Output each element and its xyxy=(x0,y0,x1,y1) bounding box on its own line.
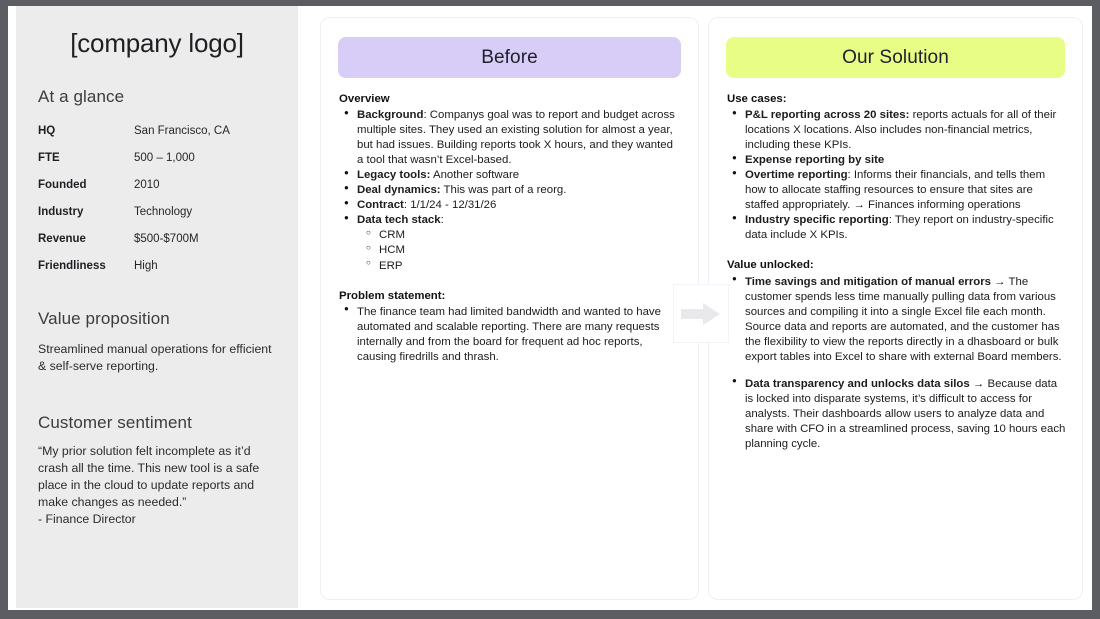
item-label: Data transparency and unlocks data silos xyxy=(745,378,970,390)
before-badge: Before xyxy=(338,37,681,78)
solution-badge: Our Solution xyxy=(726,37,1065,78)
glance-key: Revenue xyxy=(38,225,134,252)
use-cases-list: P&L reporting across 20 sites: reports a… xyxy=(727,108,1066,243)
glance-key: Founded xyxy=(38,171,134,198)
table-row: HQ San Francisco, CA xyxy=(38,117,276,144)
item-label: Overtime reporting xyxy=(745,169,848,181)
glance-key: Industry xyxy=(38,198,134,225)
table-row: Industry Technology xyxy=(38,198,276,225)
sidebar: [company logo] At a glance HQ San Franci… xyxy=(16,6,298,608)
table-row: Friendliness High xyxy=(38,252,276,279)
list-item: Contract: 1/1/24 - 12/31/26 xyxy=(357,198,682,213)
overview-title: Overview xyxy=(339,92,682,107)
table-row: Revenue $500-$700M xyxy=(38,225,276,252)
item-sep: → xyxy=(970,378,988,390)
value-proposition-heading: Value proposition xyxy=(38,309,276,329)
list-item: HCM xyxy=(379,243,682,258)
item-text: This was part of a reorg. xyxy=(444,184,567,196)
connector-box xyxy=(673,284,729,343)
list-item: Legacy tools: Another software xyxy=(357,168,682,183)
use-cases-title: Use cases: xyxy=(727,92,1066,107)
problem-statement-title: Problem statement: xyxy=(339,289,682,304)
right-arrow-icon xyxy=(681,302,721,326)
before-body: Overview Background: Companys goal was t… xyxy=(321,78,698,365)
list-item: Background: Companys goal was to report … xyxy=(357,108,682,168)
list-item: Industry specific reporting: They report… xyxy=(745,213,1066,243)
solution-card: Our Solution Use cases: P&L reporting ac… xyxy=(708,17,1083,600)
glance-value: High xyxy=(134,252,276,279)
glance-value: 2010 xyxy=(134,171,276,198)
item-label: Expense reporting by site xyxy=(745,154,884,166)
item-label: Contract xyxy=(357,199,404,211)
company-logo: [company logo] xyxy=(38,6,276,65)
value-unlocked-title: Value unlocked: xyxy=(727,258,1066,273)
item-sep: : xyxy=(441,214,444,226)
item-label: Data tech stack xyxy=(357,214,441,226)
problem-statement-list: The finance team had limited bandwidth a… xyxy=(339,305,682,365)
item-text: The customer spends less time manually p… xyxy=(745,276,1062,363)
list-item: Overtime reporting: Informs their financ… xyxy=(745,168,1066,213)
glance-value: San Francisco, CA xyxy=(134,117,276,144)
glance-value: Technology xyxy=(134,198,276,225)
glance-key: HQ xyxy=(38,117,134,144)
list-item: Deal dynamics: This was part of a reorg. xyxy=(357,183,682,198)
at-a-glance-heading: At a glance xyxy=(38,87,276,107)
list-item: CRM xyxy=(379,228,682,243)
item-text: Another software xyxy=(433,169,519,181)
tech-stack-list: CRM HCM ERP xyxy=(357,228,682,273)
list-item: Expense reporting by site xyxy=(745,153,1066,168)
glance-value: $500-$700M xyxy=(134,225,276,252)
at-a-glance-table: HQ San Francisco, CA FTE 500 – 1,000 Fou… xyxy=(38,117,276,279)
value-unlocked-list: Time savings and mitigation of manual er… xyxy=(727,275,1066,453)
glance-key: FTE xyxy=(38,144,134,171)
list-item: Data tech stack: CRM HCM ERP xyxy=(357,213,682,273)
list-item: ERP xyxy=(379,259,682,274)
list-item: Data transparency and unlocks data silos… xyxy=(745,377,1066,452)
item-text: 1/1/24 - 12/31/26 xyxy=(410,199,496,211)
item-label: Deal dynamics: xyxy=(357,184,441,196)
glance-key: Friendliness xyxy=(38,252,134,279)
item-label: Legacy tools: xyxy=(357,169,430,181)
slide-canvas: [company logo] At a glance HQ San Franci… xyxy=(8,6,1092,610)
list-item: P&L reporting across 20 sites: reports a… xyxy=(745,108,1066,153)
customer-sentiment-heading: Customer sentiment xyxy=(38,413,276,433)
list-item: Time savings and mitigation of manual er… xyxy=(745,275,1066,365)
item-sep: → xyxy=(991,276,1009,288)
value-proposition-body: Streamlined manual operations for effici… xyxy=(38,341,276,375)
overview-list: Background: Companys goal was to report … xyxy=(339,108,682,274)
item-label: Background xyxy=(357,109,423,121)
solution-body: Use cases: P&L reporting across 20 sites… xyxy=(709,78,1082,452)
glance-value: 500 – 1,000 xyxy=(134,144,276,171)
list-item: The finance team had limited bandwidth a… xyxy=(357,305,682,365)
customer-sentiment-attribution: - Finance Director xyxy=(38,511,276,528)
customer-sentiment-quote: “My prior solution felt incomplete as it… xyxy=(38,443,276,511)
item-label: Industry specific reporting xyxy=(745,214,889,226)
table-row: Founded 2010 xyxy=(38,171,276,198)
item-label: P&L reporting across 20 sites: xyxy=(745,109,909,121)
item-label: Time savings and mitigation of manual er… xyxy=(745,276,991,288)
table-row: FTE 500 – 1,000 xyxy=(38,144,276,171)
before-card: Before Overview Background: Companys goa… xyxy=(320,17,699,600)
